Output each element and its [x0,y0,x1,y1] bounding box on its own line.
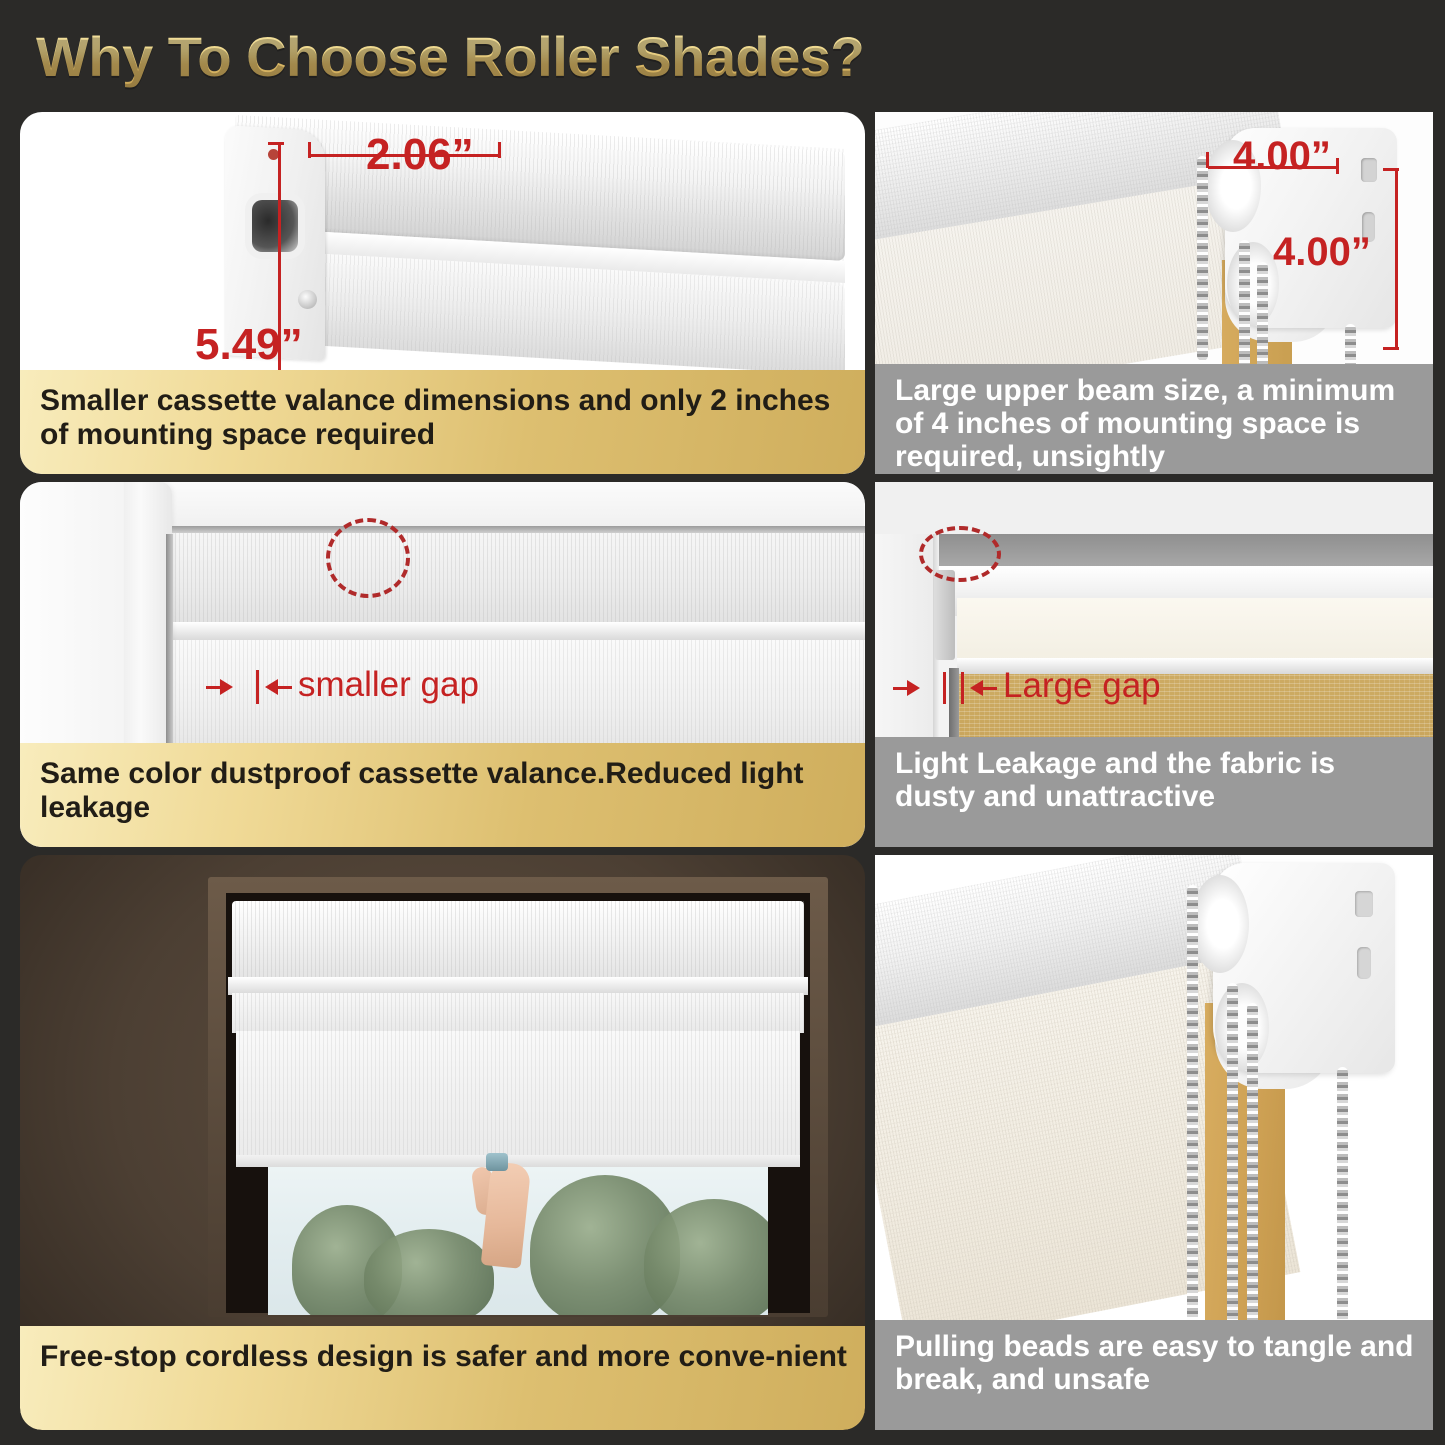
bracket-slot-lower [1357,947,1371,979]
gap-highlight-circle [326,518,410,598]
beam-width-tick-right [1336,158,1339,174]
beam-height-tick-top [1383,168,1399,171]
valance-rail [172,622,865,640]
large-gap-arrow-left [907,680,920,696]
cassette-valance [232,901,804,979]
valance-second-band [232,993,804,1033]
panel-light-leakage: Large gap Light Leakage and the fabric i… [875,482,1433,847]
gap-edge-bar [166,534,173,750]
caption-free-stop-cordless: Free-stop cordless design is safer and m… [20,1326,865,1430]
valance-roller-socket [252,200,298,252]
valance-upper-section [172,532,865,630]
bead-chain-left [1197,156,1208,361]
large-gap-marker-line-1 [943,672,946,704]
large-gap-arrow-right-stem [981,687,997,690]
height-dimension-label: 5.49” [195,320,303,370]
gap-arrow-left [220,679,233,695]
shade-clip-bracket [935,570,955,660]
width-dimension-tick-left [308,142,311,158]
beam-valance-lower [957,598,1433,660]
large-gap-label: Large gap [1003,666,1161,706]
large-gap-marker-line-2 [961,672,964,704]
caption-dustproof-cassette-valance: Same color dustproof cassette valance.Re… [20,743,865,847]
beam-width-label: 4.00” [1233,134,1331,179]
comparison-grid: 2.06” 5.49” Smaller cassette valance dim… [20,112,1425,1430]
bracket-slot-upper [1355,891,1373,917]
roller-end-disc-upper [1191,875,1249,973]
beam-height-label: 4.00” [1273,230,1371,275]
roller-end-disc-lower [1227,242,1279,326]
panel-pulling-beads: Pulling beads are easy to tangle and bre… [875,855,1433,1430]
caption-pulling-beads: Pulling beads are easy to tangle and bre… [875,1320,1433,1430]
infographic-page: Why To Choose Roller Shades? [0,0,1445,1445]
gap-arrow-right-stem [276,686,292,689]
large-gap-arrow-right [970,680,983,696]
smaller-gap-label: smaller gap [298,665,479,705]
roller-shade-fabric [236,1031,800,1163]
bead-chain-middle [1239,240,1250,368]
caption-light-leakage: Light Leakage and the fabric is dusty an… [875,737,1433,847]
shade-pull-grip [486,1153,508,1171]
panel-dustproof-cassette-valance: smaller gap Same color dustproof cassett… [20,482,865,847]
bead-chain-middle-2 [1257,262,1268,370]
width-dimension-tick-right [498,142,501,158]
bracket-slot-upper [1361,158,1377,182]
width-dimension-label: 2.06” [366,130,474,180]
height-dimension-tick-top [268,142,284,145]
valance-screw-upper [298,290,317,309]
gap-arrow-right [265,679,278,695]
roller-end-disc-lower [1215,983,1269,1071]
valance-top-edge [172,526,865,533]
gap-marker-line [256,670,259,704]
beam-shadow-band [935,534,1433,568]
large-gap-highlight-circle [919,526,1001,582]
panel-large-upper-beam: 4.00” 4.00” Large upper beam size, a min… [875,112,1433,474]
caption-cassette-valance-dimensions: Smaller cassette valance dimensions and … [20,370,865,474]
panel-cassette-valance-dimensions: 2.06” 5.49” Smaller cassette valance dim… [20,112,865,474]
tree-2 [364,1229,494,1315]
caption-large-upper-beam: Large upper beam size, a minimum of 4 in… [875,364,1433,474]
beam-height-dimension-line [1395,168,1398,350]
shade-fabric-lower [172,640,865,750]
panel-free-stop-cordless: Free-stop cordless design is safer and m… [20,855,865,1430]
beam-width-tick-left [1206,152,1209,168]
page-title: Why To Choose Roller Shades? [36,24,864,89]
beam-height-tick-bottom [1383,347,1399,350]
